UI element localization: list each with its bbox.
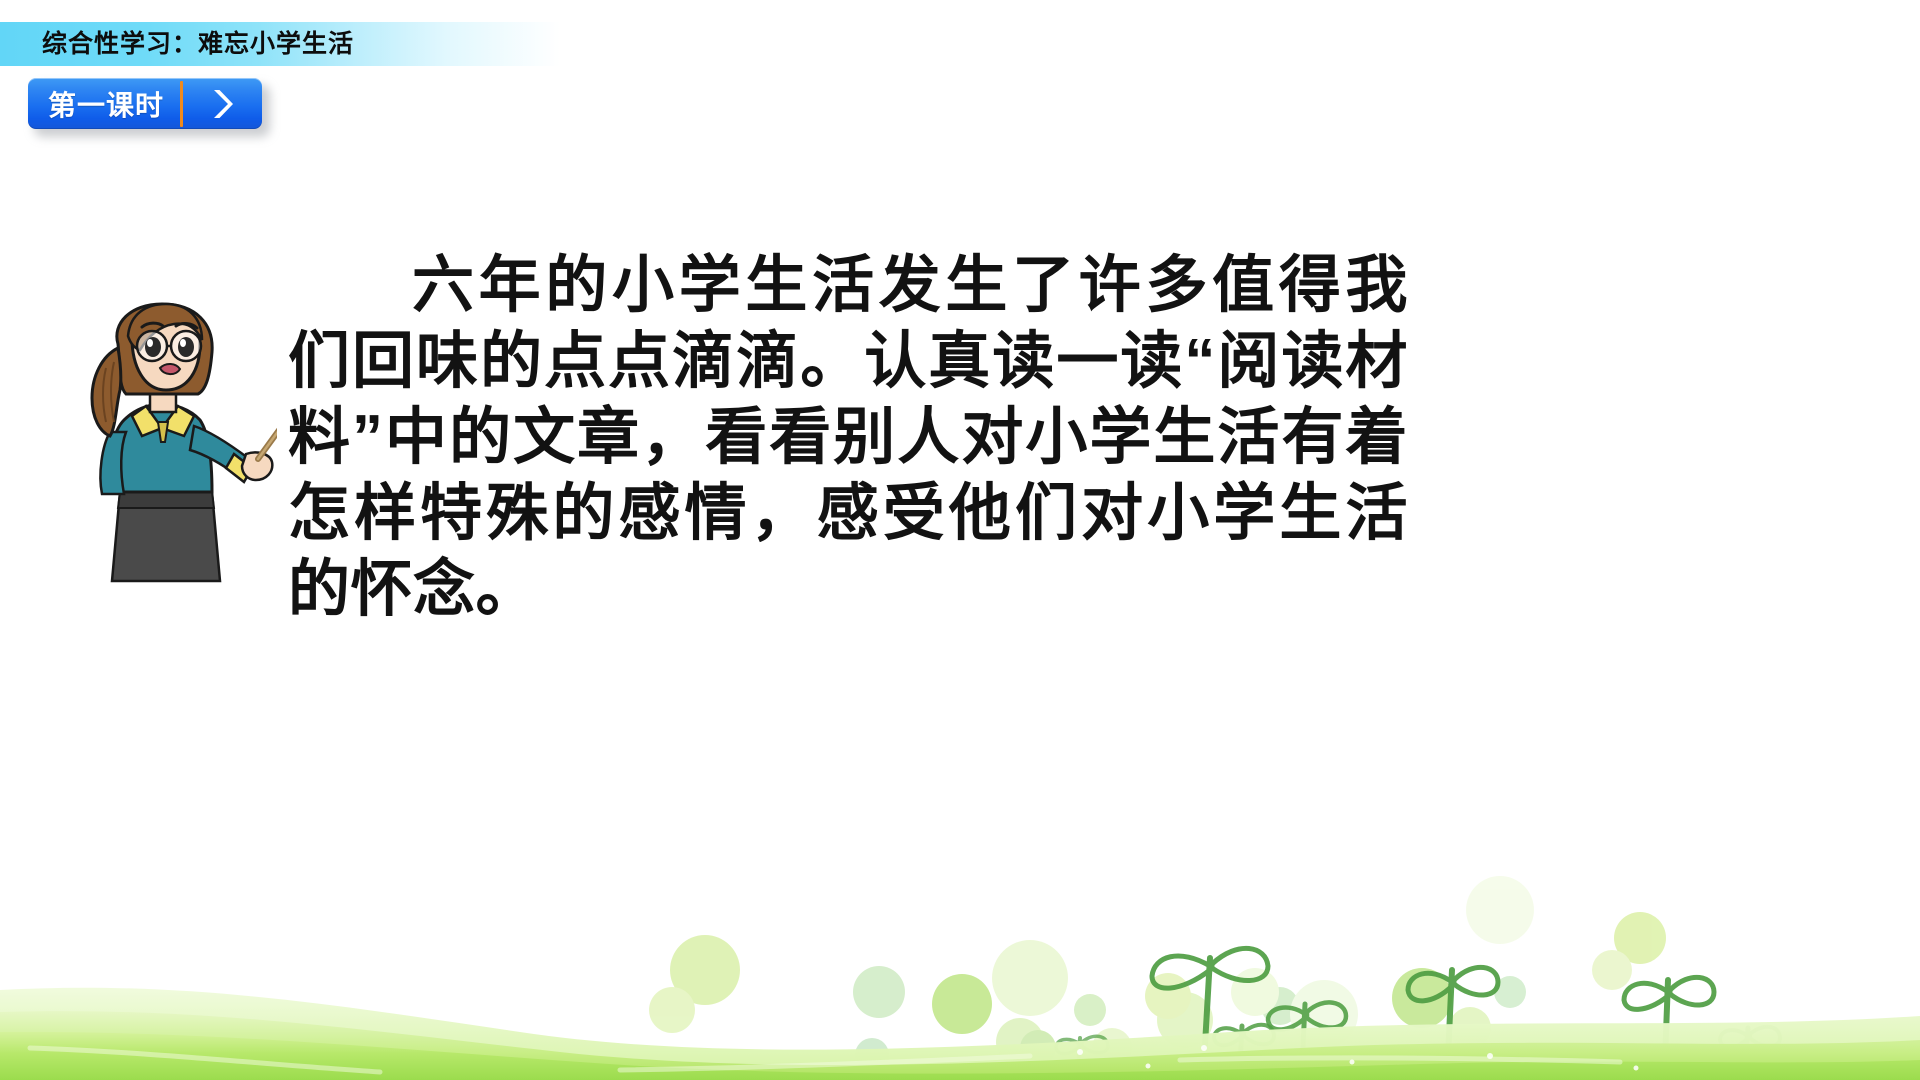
lesson-button[interactable]: 第一课时: [28, 78, 262, 129]
chevron-right-icon[interactable]: [183, 87, 262, 121]
lesson-paragraph: 六年的小学生活发生了许多值得我们回味的点点滴滴。认真读一读“阅读材料”中的文章，…: [288, 248, 1408, 628]
lesson-button-label: 第一课时: [28, 84, 180, 124]
page-title: 综合性学习：难忘小学生活: [42, 23, 354, 65]
teacher-pointing-icon: [62, 296, 277, 588]
bokeh-circles-icon: [649, 876, 1666, 1072]
lesson-button-wrap: 第一课时: [28, 78, 266, 130]
bottom-scenery: [0, 780, 1920, 1080]
sparkles: [1077, 1045, 1639, 1071]
grass-field-icon: [0, 988, 1920, 1080]
slide-root: 综合性学习：难忘小学生活 第一课时: [0, 0, 1920, 1080]
sprout-icon: [1056, 948, 1780, 1070]
